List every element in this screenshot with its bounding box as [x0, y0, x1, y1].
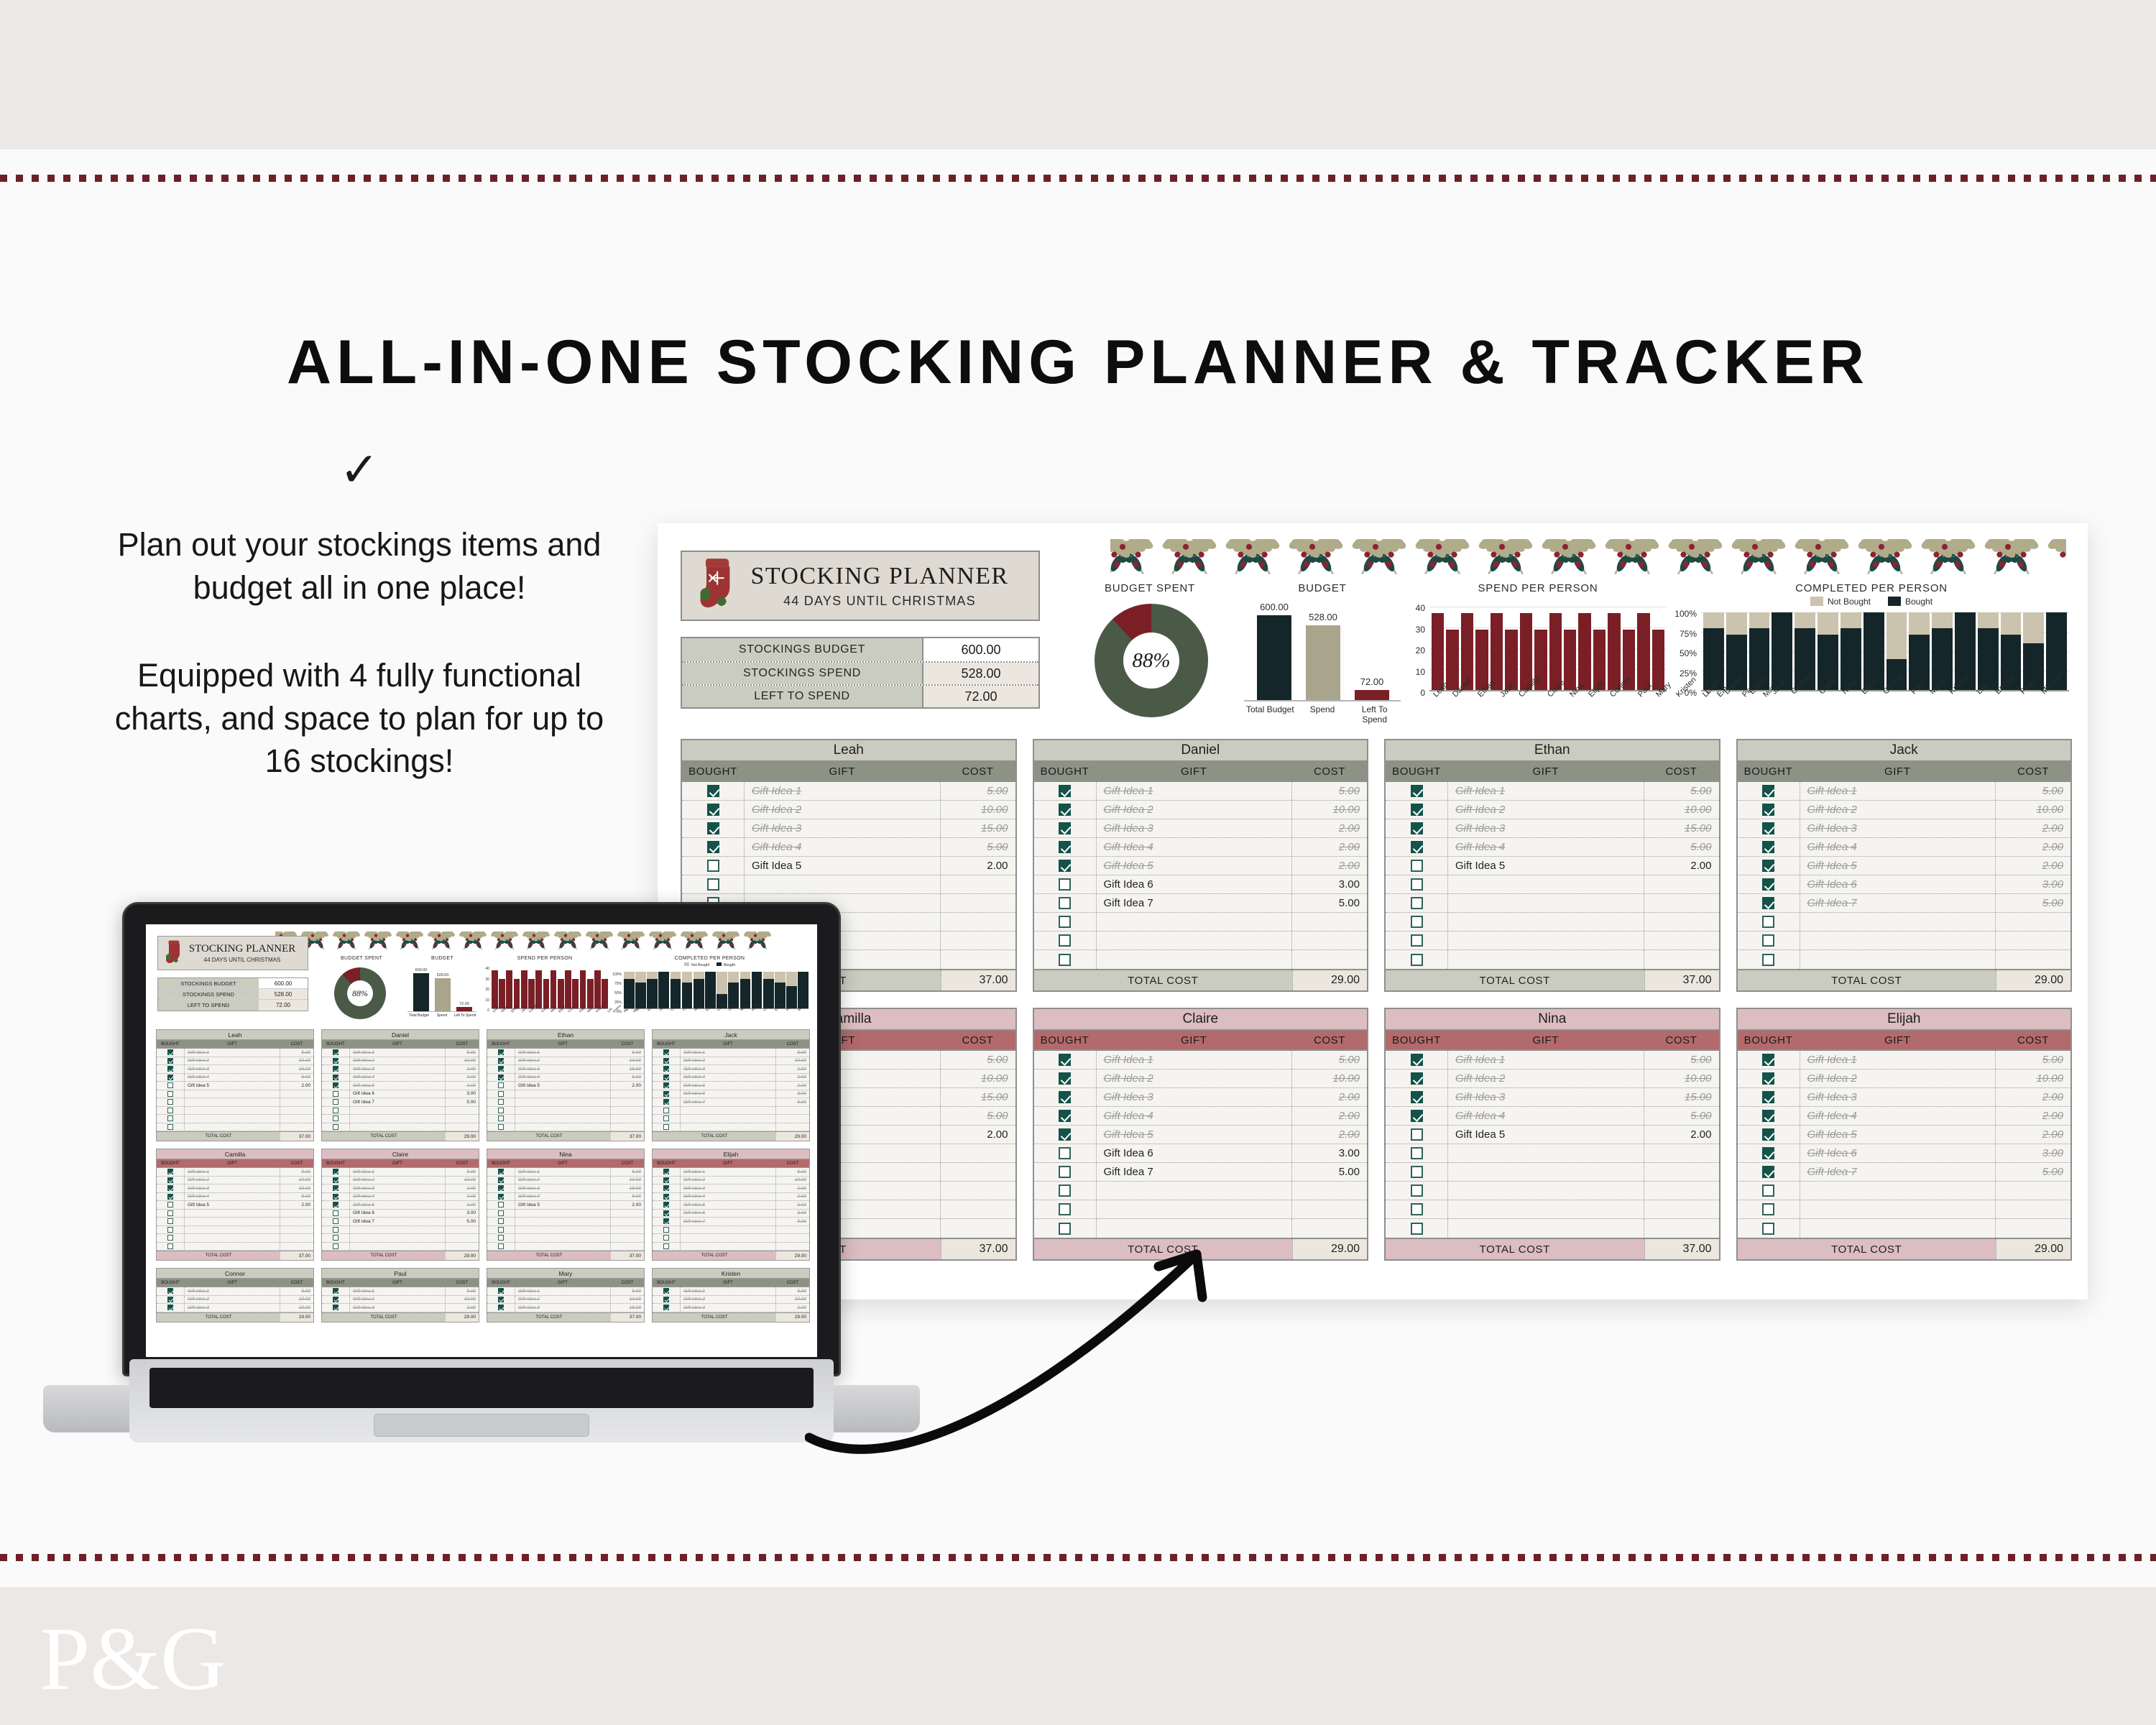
bought-checkbox-cell[interactable] — [653, 1090, 680, 1098]
gift-name-cell[interactable]: Gift Idea 4 — [1096, 1107, 1293, 1125]
bought-checkbox-cell[interactable] — [487, 1082, 515, 1090]
gift-cost-cell[interactable]: 2.00 — [446, 1193, 479, 1201]
gift-cost-cell[interactable]: 5.00 — [446, 1098, 479, 1106]
gift-name-cell[interactable]: Gift Idea 7 — [1800, 894, 1996, 912]
checkbox-icon[interactable] — [498, 1243, 504, 1249]
bought-checkbox-cell[interactable] — [322, 1287, 349, 1295]
gift-name-cell[interactable]: Gift Idea 3 — [1800, 819, 1996, 837]
gift-cost-cell[interactable]: 5.00 — [280, 1193, 313, 1201]
gift-name-cell[interactable] — [184, 1115, 280, 1123]
gift-name-cell[interactable] — [1447, 913, 1644, 931]
gift-name-cell[interactable]: Gift Idea 1 — [515, 1168, 611, 1176]
gift-name-cell[interactable]: Gift Idea 3 — [515, 1184, 611, 1192]
gift-cost-cell[interactable] — [1292, 1182, 1367, 1200]
bought-checkbox-cell[interactable] — [157, 1090, 184, 1098]
bought-checkbox-cell[interactable] — [1738, 931, 1800, 949]
checkbox-icon[interactable] — [498, 1082, 504, 1088]
gift-name-cell[interactable]: Gift Idea 6 — [1800, 1144, 1996, 1162]
gift-name-cell[interactable]: Gift Idea 2 — [184, 1057, 280, 1065]
bought-checkbox-cell[interactable] — [1738, 857, 1800, 875]
gift-name-cell[interactable]: Gift Idea 3 — [349, 1184, 446, 1192]
gift-cost-cell[interactable]: 10.00 — [776, 1057, 809, 1065]
gift-name-cell[interactable] — [184, 1243, 280, 1251]
gift-cost-cell[interactable]: 2.00 — [776, 1082, 809, 1090]
checkbox-icon[interactable] — [707, 841, 719, 853]
checkbox-icon[interactable] — [663, 1235, 669, 1241]
checkbox-icon[interactable] — [1411, 1166, 1423, 1178]
bought-checkbox-cell[interactable] — [682, 857, 744, 875]
bought-checkbox-cell[interactable] — [653, 1287, 680, 1295]
gift-name-cell[interactable]: Gift Idea 1 — [515, 1287, 611, 1295]
gift-name-cell[interactable]: Gift Idea 4 — [1800, 1107, 1996, 1125]
gift-cost-cell[interactable] — [611, 1218, 644, 1225]
gift-name-cell[interactable]: Gift Idea 1 — [680, 1049, 776, 1057]
bought-checkbox-cell[interactable] — [487, 1115, 515, 1123]
gift-cost-cell[interactable] — [1996, 1200, 2070, 1218]
checkbox-icon[interactable] — [1411, 897, 1423, 909]
gift-cost-cell[interactable] — [1644, 931, 1719, 949]
gift-cost-cell[interactable]: 2.00 — [1292, 1126, 1367, 1144]
checkbox-icon[interactable] — [167, 1099, 173, 1105]
bought-checkbox-cell[interactable] — [653, 1201, 680, 1209]
gift-name-cell[interactable]: Gift Idea 4 — [1447, 838, 1644, 856]
bought-checkbox-cell[interactable] — [1386, 1107, 1447, 1125]
gift-cost-cell[interactable] — [1644, 950, 1719, 969]
gift-cost-cell[interactable]: 2.00 — [1996, 1107, 2070, 1125]
gift-cost-cell[interactable]: 5.00 — [611, 1049, 644, 1057]
checkbox-icon[interactable] — [663, 1115, 669, 1121]
bought-checkbox-cell[interactable] — [322, 1057, 349, 1065]
gift-cost-cell[interactable] — [280, 1210, 313, 1218]
bought-checkbox-cell[interactable] — [322, 1184, 349, 1192]
gift-cost-cell[interactable]: 5.00 — [1996, 1163, 2070, 1181]
gift-name-cell[interactable]: Gift Idea 4 — [1800, 838, 1996, 856]
gift-cost-cell[interactable]: 10.00 — [611, 1177, 644, 1184]
checkbox-icon[interactable] — [167, 1177, 173, 1183]
gift-name-cell[interactable]: Gift Idea 6 — [349, 1090, 446, 1098]
gift-cost-cell[interactable]: 5.00 — [1996, 1051, 2070, 1069]
gift-cost-cell[interactable] — [611, 1226, 644, 1234]
checkbox-icon[interactable] — [663, 1066, 669, 1072]
bought-checkbox-cell[interactable] — [322, 1201, 349, 1209]
bought-checkbox-cell[interactable] — [1034, 782, 1096, 800]
checkbox-icon[interactable] — [1059, 1184, 1071, 1197]
bought-checkbox-cell[interactable] — [322, 1218, 349, 1225]
gift-cost-cell[interactable] — [611, 1210, 644, 1218]
checkbox-icon[interactable] — [1059, 878, 1071, 891]
gift-name-cell[interactable]: Gift Idea 2 — [184, 1296, 280, 1304]
bought-checkbox-cell[interactable] — [157, 1234, 184, 1242]
checkbox-icon[interactable] — [1762, 1147, 1774, 1159]
gift-cost-cell[interactable]: 5.00 — [776, 1287, 809, 1295]
gift-cost-cell[interactable]: 10.00 — [446, 1177, 479, 1184]
gift-name-cell[interactable]: Gift Idea 5 — [184, 1082, 280, 1090]
bought-checkbox-cell[interactable] — [682, 782, 744, 800]
checkbox-icon[interactable] — [167, 1075, 173, 1080]
gift-cost-cell[interactable] — [1644, 1144, 1719, 1162]
bought-checkbox-cell[interactable] — [653, 1184, 680, 1192]
bought-checkbox-cell[interactable] — [322, 1210, 349, 1218]
gift-name-cell[interactable]: Gift Idea 5 — [515, 1201, 611, 1209]
gift-cost-cell[interactable] — [1292, 1200, 1367, 1218]
gift-name-cell[interactable]: Gift Idea 5 — [515, 1082, 611, 1090]
kpi-value[interactable]: 600.00 — [923, 638, 1038, 661]
checkbox-icon[interactable] — [663, 1210, 669, 1216]
gift-cost-cell[interactable] — [1996, 1182, 2070, 1200]
bought-checkbox-cell[interactable] — [1386, 875, 1447, 893]
checkbox-icon[interactable] — [333, 1066, 338, 1072]
checkbox-icon[interactable] — [167, 1235, 173, 1241]
checkbox-icon[interactable] — [663, 1169, 669, 1174]
bought-checkbox-cell[interactable] — [322, 1234, 349, 1242]
bought-checkbox-cell[interactable] — [1738, 1219, 1800, 1238]
checkbox-icon[interactable] — [333, 1194, 338, 1200]
checkbox-icon[interactable] — [663, 1049, 669, 1055]
gift-cost-cell[interactable] — [941, 931, 1015, 949]
checkbox-icon[interactable] — [1411, 1147, 1423, 1159]
gift-cost-cell[interactable]: 10.00 — [1292, 801, 1367, 819]
checkbox-icon[interactable] — [663, 1227, 669, 1233]
checkbox-icon[interactable] — [1411, 1054, 1423, 1066]
gift-name-cell[interactable]: Gift Idea 4 — [515, 1193, 611, 1201]
gift-cost-cell[interactable] — [1292, 913, 1367, 931]
gift-cost-cell[interactable]: 15.00 — [1644, 819, 1719, 837]
gift-name-cell[interactable] — [515, 1210, 611, 1218]
checkbox-icon[interactable] — [1762, 1128, 1774, 1141]
checkbox-icon[interactable] — [663, 1108, 669, 1113]
gift-name-cell[interactable] — [1800, 1219, 1996, 1238]
bought-checkbox-cell[interactable] — [157, 1057, 184, 1065]
gift-name-cell[interactable]: Gift Idea 2 — [680, 1296, 776, 1304]
checkbox-icon[interactable] — [167, 1066, 173, 1072]
gift-cost-cell[interactable]: 15.00 — [1644, 1088, 1719, 1106]
gift-name-cell[interactable] — [1447, 1182, 1644, 1200]
bought-checkbox-cell[interactable] — [653, 1049, 680, 1057]
gift-name-cell[interactable]: Gift Idea 4 — [1096, 838, 1293, 856]
bought-checkbox-cell[interactable] — [322, 1049, 349, 1057]
gift-cost-cell[interactable] — [776, 1243, 809, 1251]
checkbox-icon[interactable] — [333, 1288, 338, 1294]
bought-checkbox-cell[interactable] — [1034, 1126, 1096, 1144]
checkbox-icon[interactable] — [663, 1185, 669, 1191]
gift-cost-cell[interactable] — [941, 950, 1015, 969]
gift-cost-cell[interactable] — [1644, 913, 1719, 931]
checkbox-icon[interactable] — [1762, 785, 1774, 797]
gift-name-cell[interactable]: Gift Idea 1 — [1800, 1051, 1996, 1069]
gift-cost-cell[interactable]: 2.00 — [446, 1082, 479, 1090]
checkbox-icon[interactable] — [333, 1297, 338, 1302]
gift-name-cell[interactable] — [184, 1210, 280, 1218]
bought-checkbox-cell[interactable] — [1738, 950, 1800, 969]
gift-name-cell[interactable]: Gift Idea 2 — [1447, 801, 1644, 819]
bought-checkbox-cell[interactable] — [1738, 913, 1800, 931]
checkbox-icon[interactable] — [1059, 860, 1071, 872]
checkbox-icon[interactable] — [1411, 1203, 1423, 1215]
bought-checkbox-cell[interactable] — [157, 1226, 184, 1234]
bought-checkbox-cell[interactable] — [1386, 782, 1447, 800]
checkbox-icon[interactable] — [1411, 1091, 1423, 1103]
gift-name-cell[interactable]: Gift Idea 5 — [1447, 1126, 1644, 1144]
bought-checkbox-cell[interactable] — [1386, 1051, 1447, 1069]
bought-checkbox-cell[interactable] — [1738, 875, 1800, 893]
gift-name-cell[interactable]: Gift Idea 2 — [680, 1057, 776, 1065]
gift-cost-cell[interactable] — [280, 1226, 313, 1234]
checkbox-icon[interactable] — [663, 1124, 669, 1130]
bought-checkbox-cell[interactable] — [487, 1304, 515, 1312]
gift-cost-cell[interactable]: 10.00 — [280, 1177, 313, 1184]
gift-cost-cell[interactable] — [776, 1115, 809, 1123]
checkbox-icon[interactable] — [498, 1058, 504, 1064]
bought-checkbox-cell[interactable] — [1034, 801, 1096, 819]
checkbox-icon[interactable] — [663, 1218, 669, 1224]
gift-cost-cell[interactable]: 2.00 — [280, 1082, 313, 1090]
checkbox-icon[interactable] — [1762, 916, 1774, 928]
bought-checkbox-cell[interactable] — [487, 1226, 515, 1234]
bought-checkbox-cell[interactable] — [157, 1082, 184, 1090]
checkbox-icon[interactable] — [498, 1185, 504, 1191]
gift-name-cell[interactable]: Gift Idea 4 — [349, 1193, 446, 1201]
bought-checkbox-cell[interactable] — [653, 1115, 680, 1123]
gift-cost-cell[interactable] — [280, 1090, 313, 1098]
gift-name-cell[interactable]: Gift Idea 3 — [1447, 819, 1644, 837]
checkbox-icon[interactable] — [333, 1091, 338, 1097]
gift-name-cell[interactable]: Gift Idea 4 — [184, 1193, 280, 1201]
gift-cost-cell[interactable]: 5.00 — [1292, 1163, 1367, 1181]
checkbox-icon[interactable] — [498, 1124, 504, 1130]
bought-checkbox-cell[interactable] — [653, 1065, 680, 1073]
bought-checkbox-cell[interactable] — [653, 1234, 680, 1242]
gift-cost-cell[interactable]: 5.00 — [1292, 894, 1367, 912]
gift-name-cell[interactable] — [1800, 1200, 1996, 1218]
gift-name-cell[interactable]: Gift Idea 5 — [1800, 857, 1996, 875]
gift-name-cell[interactable] — [1096, 1200, 1293, 1218]
bought-checkbox-cell[interactable] — [682, 801, 744, 819]
gift-cost-cell[interactable]: 5.00 — [280, 1287, 313, 1295]
checkbox-icon[interactable] — [167, 1049, 173, 1055]
checkbox-icon[interactable] — [333, 1108, 338, 1113]
gift-name-cell[interactable]: Gift Idea 6 — [1096, 875, 1293, 893]
checkbox-icon[interactable] — [1762, 1223, 1774, 1235]
checkbox-icon[interactable] — [1762, 860, 1774, 872]
gift-cost-cell[interactable]: 5.00 — [1292, 782, 1367, 800]
gift-cost-cell[interactable]: 2.00 — [446, 1065, 479, 1073]
bought-checkbox-cell[interactable] — [1034, 1219, 1096, 1238]
bought-checkbox-cell[interactable] — [1738, 1088, 1800, 1106]
checkbox-icon[interactable] — [1762, 934, 1774, 947]
bought-checkbox-cell[interactable] — [1386, 838, 1447, 856]
gift-cost-cell[interactable]: 2.00 — [446, 1074, 479, 1082]
checkbox-icon[interactable] — [1059, 916, 1071, 928]
bought-checkbox-cell[interactable] — [487, 1074, 515, 1082]
gift-cost-cell[interactable]: 2.00 — [1292, 1107, 1367, 1125]
gift-cost-cell[interactable]: 5.00 — [941, 838, 1015, 856]
bought-checkbox-cell[interactable] — [157, 1123, 184, 1131]
gift-name-cell[interactable]: Gift Idea 6 — [349, 1210, 446, 1218]
gift-name-cell[interactable] — [1447, 1200, 1644, 1218]
bought-checkbox-cell[interactable] — [157, 1168, 184, 1176]
gift-name-cell[interactable]: Gift Idea 3 — [1447, 1088, 1644, 1106]
checkbox-icon[interactable] — [1762, 897, 1774, 909]
bought-checkbox-cell[interactable] — [487, 1049, 515, 1057]
gift-name-cell[interactable]: Gift Idea 5 — [1096, 857, 1293, 875]
gift-name-cell[interactable]: Gift Idea 2 — [744, 801, 941, 819]
bought-checkbox-cell[interactable] — [1386, 931, 1447, 949]
gift-name-cell[interactable]: Gift Idea 1 — [1447, 1051, 1644, 1069]
gift-name-cell[interactable]: Gift Idea 2 — [349, 1057, 446, 1065]
gift-name-cell[interactable]: Gift Idea 4 — [349, 1074, 446, 1082]
gift-cost-cell[interactable]: 15.00 — [611, 1304, 644, 1312]
gift-cost-cell[interactable]: 10.00 — [611, 1296, 644, 1304]
bought-checkbox-cell[interactable] — [653, 1082, 680, 1090]
gift-name-cell[interactable]: Gift Idea 4 — [744, 838, 941, 856]
bought-checkbox-cell[interactable] — [487, 1193, 515, 1201]
gift-cost-cell[interactable]: 5.00 — [280, 1074, 313, 1082]
bought-checkbox-cell[interactable] — [322, 1193, 349, 1201]
checkbox-icon[interactable] — [167, 1243, 173, 1249]
gift-name-cell[interactable] — [680, 1115, 776, 1123]
checkbox-icon[interactable] — [167, 1305, 173, 1310]
bought-checkbox-cell[interactable] — [1386, 801, 1447, 819]
bought-checkbox-cell[interactable] — [653, 1304, 680, 1312]
gift-name-cell[interactable]: Gift Idea 6 — [1096, 1144, 1293, 1162]
gift-cost-cell[interactable] — [1644, 1200, 1719, 1218]
gift-cost-cell[interactable]: 10.00 — [776, 1296, 809, 1304]
gift-cost-cell[interactable] — [1292, 950, 1367, 969]
gift-cost-cell[interactable]: 10.00 — [1292, 1069, 1367, 1087]
bought-checkbox-cell[interactable] — [157, 1218, 184, 1225]
gift-cost-cell[interactable] — [1644, 1163, 1719, 1181]
gift-cost-cell[interactable]: 10.00 — [446, 1057, 479, 1065]
checkbox-icon[interactable] — [1762, 1110, 1774, 1122]
gift-name-cell[interactable] — [184, 1226, 280, 1234]
gift-cost-cell[interactable]: 2.00 — [1996, 1126, 2070, 1144]
gift-cost-cell[interactable] — [611, 1090, 644, 1098]
gift-cost-cell[interactable]: 10.00 — [776, 1177, 809, 1184]
bought-checkbox-cell[interactable] — [1034, 1144, 1096, 1162]
gift-cost-cell[interactable]: 2.00 — [1644, 1126, 1719, 1144]
bought-checkbox-cell[interactable] — [157, 1184, 184, 1192]
gift-name-cell[interactable] — [1096, 1182, 1293, 1200]
gift-name-cell[interactable] — [349, 1234, 446, 1242]
checkbox-icon[interactable] — [1762, 954, 1774, 966]
bought-checkbox-cell[interactable] — [487, 1243, 515, 1251]
checkbox-icon[interactable] — [498, 1297, 504, 1302]
checkbox-icon[interactable] — [1411, 1223, 1423, 1235]
checkbox-icon[interactable] — [1059, 1054, 1071, 1066]
gift-cost-cell[interactable]: 5.00 — [611, 1074, 644, 1082]
gift-name-cell[interactable]: Gift Idea 7 — [1096, 1163, 1293, 1181]
gift-name-cell[interactable]: Gift Idea 2 — [1800, 1069, 1996, 1087]
gift-cost-cell[interactable]: 5.00 — [941, 1107, 1015, 1125]
gift-cost-cell[interactable]: 5.00 — [1292, 1051, 1367, 1069]
gift-name-cell[interactable] — [515, 1107, 611, 1115]
gift-cost-cell[interactable]: 15.00 — [941, 819, 1015, 837]
gift-cost-cell[interactable] — [941, 894, 1015, 912]
gift-cost-cell[interactable]: 5.00 — [1644, 838, 1719, 856]
checkbox-icon[interactable] — [1059, 1128, 1071, 1141]
gift-name-cell[interactable] — [349, 1115, 446, 1123]
gift-name-cell[interactable]: Gift Idea 7 — [349, 1098, 446, 1106]
gift-cost-cell[interactable] — [611, 1115, 644, 1123]
gift-name-cell[interactable]: Gift Idea 7 — [1096, 894, 1293, 912]
bought-checkbox-cell[interactable] — [1738, 801, 1800, 819]
gift-name-cell[interactable]: Gift Idea 1 — [1447, 782, 1644, 800]
gift-cost-cell[interactable]: 10.00 — [1644, 801, 1719, 819]
checkbox-icon[interactable] — [167, 1058, 173, 1064]
checkbox-icon[interactable] — [498, 1177, 504, 1183]
gift-cost-cell[interactable] — [776, 1226, 809, 1234]
gift-cost-cell[interactable]: 3.00 — [446, 1210, 479, 1218]
gift-name-cell[interactable]: Gift Idea 3 — [680, 1184, 776, 1192]
checkbox-icon[interactable] — [333, 1243, 338, 1249]
gift-cost-cell[interactable] — [611, 1107, 644, 1115]
gift-name-cell[interactable]: Gift Idea 1 — [515, 1049, 611, 1057]
gift-name-cell[interactable] — [680, 1107, 776, 1115]
gift-cost-cell[interactable] — [280, 1107, 313, 1115]
bought-checkbox-cell[interactable] — [653, 1226, 680, 1234]
gift-cost-cell[interactable]: 10.00 — [941, 801, 1015, 819]
checkbox-icon[interactable] — [1059, 934, 1071, 947]
bought-checkbox-cell[interactable] — [1386, 1200, 1447, 1218]
bought-checkbox-cell[interactable] — [322, 1098, 349, 1106]
gift-cost-cell[interactable]: 5.00 — [1644, 1051, 1719, 1069]
bought-checkbox-cell[interactable] — [157, 1193, 184, 1201]
gift-cost-cell[interactable] — [611, 1234, 644, 1242]
gift-name-cell[interactable]: Gift Idea 2 — [515, 1296, 611, 1304]
gift-name-cell[interactable]: Gift Idea 1 — [184, 1049, 280, 1057]
gift-cost-cell[interactable]: 10.00 — [446, 1296, 479, 1304]
bought-checkbox-cell[interactable] — [322, 1304, 349, 1312]
gift-name-cell[interactable] — [184, 1234, 280, 1242]
gift-cost-cell[interactable] — [1996, 1219, 2070, 1238]
gift-cost-cell[interactable]: 5.00 — [446, 1218, 479, 1225]
bought-checkbox-cell[interactable] — [653, 1168, 680, 1176]
gift-cost-cell[interactable] — [941, 1144, 1015, 1162]
gift-cost-cell[interactable] — [1996, 913, 2070, 931]
checkbox-icon[interactable] — [1762, 822, 1774, 834]
gift-name-cell[interactable] — [349, 1123, 446, 1131]
gift-cost-cell[interactable] — [941, 875, 1015, 893]
gift-cost-cell[interactable]: 15.00 — [280, 1304, 313, 1312]
gift-cost-cell[interactable]: 2.00 — [941, 857, 1015, 875]
bought-checkbox-cell[interactable] — [1034, 1107, 1096, 1125]
gift-name-cell[interactable]: Gift Idea 2 — [349, 1177, 446, 1184]
checkbox-icon[interactable] — [1411, 878, 1423, 891]
checkbox-icon[interactable] — [167, 1115, 173, 1121]
checkbox-icon[interactable] — [1411, 1072, 1423, 1085]
checkbox-icon[interactable] — [333, 1227, 338, 1233]
gift-cost-cell[interactable]: 2.00 — [1292, 857, 1367, 875]
bought-checkbox-cell[interactable] — [653, 1107, 680, 1115]
gift-cost-cell[interactable]: 2.00 — [1292, 1088, 1367, 1106]
checkbox-icon[interactable] — [1411, 916, 1423, 928]
bought-checkbox-cell[interactable] — [487, 1065, 515, 1073]
bought-checkbox-cell[interactable] — [682, 875, 744, 893]
checkbox-icon[interactable] — [663, 1091, 669, 1097]
checkbox-icon[interactable] — [167, 1227, 173, 1233]
gift-name-cell[interactable]: Gift Idea 5 — [1800, 1126, 1996, 1144]
checkbox-icon[interactable] — [167, 1108, 173, 1113]
bought-checkbox-cell[interactable] — [1738, 1163, 1800, 1181]
gift-cost-cell[interactable]: 10.00 — [280, 1057, 313, 1065]
gift-cost-cell[interactable] — [941, 1163, 1015, 1181]
checkbox-icon[interactable] — [167, 1124, 173, 1130]
gift-name-cell[interactable]: Gift Idea 4 — [680, 1193, 776, 1201]
gift-cost-cell[interactable]: 2.00 — [446, 1201, 479, 1209]
bought-checkbox-cell[interactable] — [487, 1296, 515, 1304]
bought-checkbox-cell[interactable] — [322, 1107, 349, 1115]
checkbox-icon[interactable] — [663, 1194, 669, 1200]
